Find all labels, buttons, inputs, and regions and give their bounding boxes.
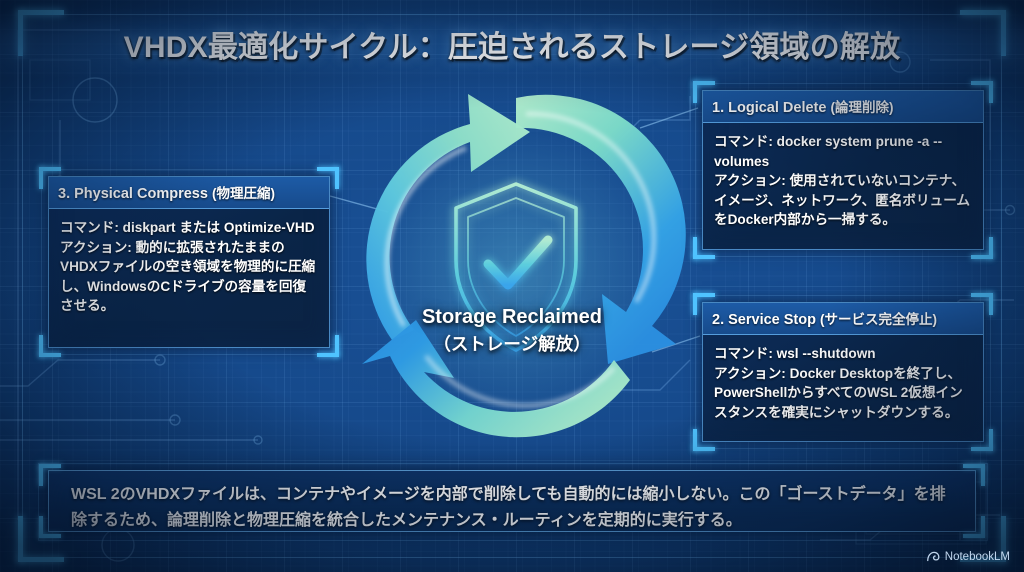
card-corner-br [971, 237, 993, 259]
card-corner-br [971, 429, 993, 451]
card-corner-tl [39, 167, 61, 189]
summary-corner-tr [963, 464, 985, 486]
card-header-jp: (サービス完全停止) [820, 312, 937, 327]
card-corner-bl [693, 237, 715, 259]
card-corner-tl [693, 293, 715, 315]
watermark-label: NotebookLM [945, 551, 1010, 563]
card-corner-br [317, 335, 339, 357]
card-header-en: 3. Physical Compress [58, 186, 208, 202]
summary-corner-bl [39, 516, 61, 538]
card-service-stop[interactable]: 2. Service Stop (サービス完全停止) コマンド: wsl --s… [702, 302, 984, 442]
card-corner-tl [693, 81, 715, 103]
card-corner-tr [971, 81, 993, 103]
card-header-logical-delete: 1. Logical Delete (論理削除) [703, 91, 983, 123]
card-corner-bl [39, 335, 61, 357]
card-logical-delete[interactable]: 1. Logical Delete (論理削除) コマンド: docker sy… [702, 90, 984, 250]
card-physical-compress[interactable]: 3. Physical Compress (物理圧縮) コマンド: diskpa… [48, 176, 330, 348]
card-header-jp: (論理削除) [830, 100, 893, 115]
summary-corner-br [963, 516, 985, 538]
card-header-physical-compress: 3. Physical Compress (物理圧縮) [49, 177, 329, 209]
card-body-physical-compress: コマンド: diskpart または Optimize-VHD アクション: 動… [49, 209, 329, 324]
card-header-en: 1. Logical Delete [712, 100, 826, 116]
notebooklm-logo-icon [926, 550, 940, 564]
summary-text: WSL 2のVHDXファイルは、コンテナやイメージを内部で削除しても自動的には縮… [49, 471, 975, 544]
infographic-canvas: VHDX最適化サイクル：圧迫されるストレージ領域の解放 [0, 0, 1024, 572]
card-header-en: 2. Service Stop [712, 312, 816, 328]
card-corner-tr [317, 167, 339, 189]
card-corner-tr [971, 293, 993, 315]
summary-banner: WSL 2のVHDXファイルは、コンテナやイメージを内部で削除しても自動的には縮… [48, 470, 976, 532]
notebooklm-watermark: NotebookLM [926, 550, 1010, 564]
card-body-logical-delete: コマンド: docker system prune -a --volumes ア… [703, 123, 983, 238]
card-header-service-stop: 2. Service Stop (サービス完全停止) [703, 303, 983, 335]
card-header-jp: (物理圧縮) [212, 186, 275, 201]
card-body-service-stop: コマンド: wsl --shutdown アクション: Docker Deskt… [703, 335, 983, 430]
summary-corner-tl [39, 464, 61, 486]
card-corner-bl [693, 429, 715, 451]
cycle-arrows [330, 88, 702, 460]
